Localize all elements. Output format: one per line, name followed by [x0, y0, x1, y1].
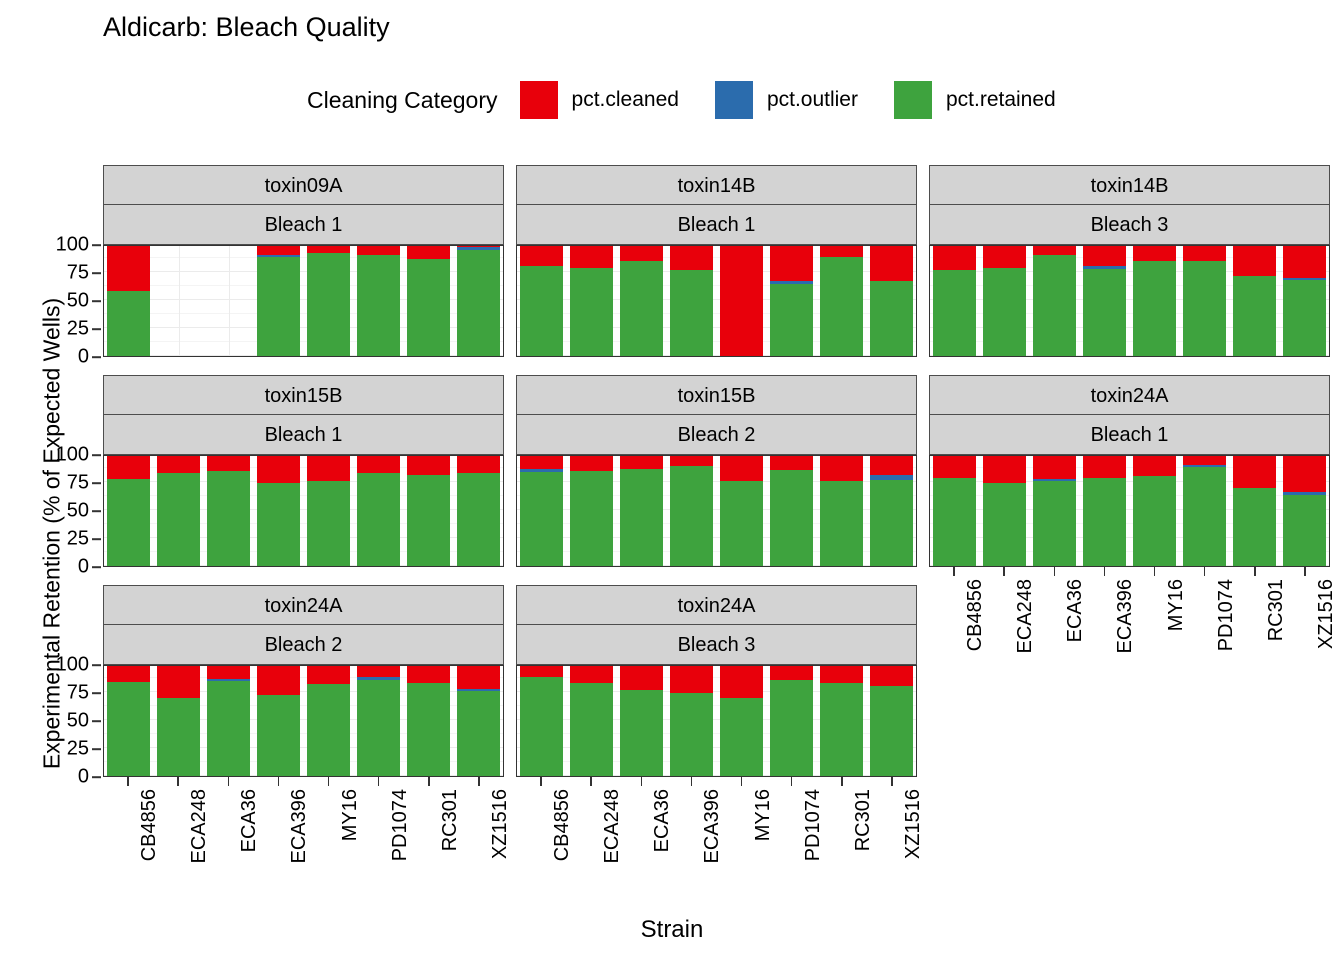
- bar-segment-pct-retained[interactable]: [457, 473, 500, 566]
- bar-segment-pct-retained[interactable]: [1083, 269, 1126, 356]
- x-tick-label-rc301: RC301: [1265, 579, 1288, 641]
- stacked-bar[interactable]: [983, 455, 1026, 566]
- y-tick-label-50: 50: [67, 500, 89, 523]
- stacked-bar[interactable]: [670, 245, 713, 356]
- bar-slot-cb4856: [930, 246, 980, 356]
- bar-segment-pct-retained[interactable]: [620, 690, 663, 776]
- y-axis: 1007550250: [41, 245, 101, 357]
- bar-segment-pct-cleaned[interactable]: [770, 245, 813, 281]
- plot-panel: [516, 455, 917, 567]
- bar-segment-pct-cleaned[interactable]: [520, 665, 563, 677]
- bar-segment-pct-retained[interactable]: [983, 483, 1026, 566]
- bar-slot-cb4856: [517, 456, 567, 566]
- y-tick-mark: [92, 482, 101, 484]
- bar-slot-pd1074: [766, 246, 816, 356]
- bar-segment-pct-retained[interactable]: [257, 695, 300, 776]
- x-tick-mark: [177, 777, 179, 786]
- bar-segment-pct-cleaned[interactable]: [570, 455, 613, 471]
- x-tick-label-eca36: ECA36: [238, 789, 261, 852]
- stacked-bar[interactable]: [307, 455, 350, 566]
- bar-segment-pct-cleaned[interactable]: [1283, 245, 1326, 278]
- bar-slot-my16: [304, 666, 354, 776]
- y-tick-label-0: 0: [78, 556, 89, 579]
- facet-panel: toxin15BBleach 2: [516, 375, 917, 567]
- stacked-bar[interactable]: [357, 455, 400, 566]
- x-tick-label-rc301: RC301: [852, 789, 875, 851]
- bar-segment-pct-cleaned[interactable]: [820, 455, 863, 481]
- stacked-bar[interactable]: [207, 665, 250, 776]
- bar-segment-pct-cleaned[interactable]: [520, 245, 563, 266]
- bar-slot-eca36: [204, 666, 254, 776]
- facet-strip-bleach: Bleach 1: [103, 205, 504, 245]
- bar-segment-pct-cleaned[interactable]: [1083, 245, 1126, 266]
- stacked-bar[interactable]: [357, 245, 400, 356]
- x-tick-label-my16: MY16: [1165, 579, 1188, 631]
- facet-strip-toxin: toxin09A: [103, 165, 504, 205]
- stacked-bar[interactable]: [820, 455, 863, 566]
- x-tick-label-xz1516: XZ1516: [902, 789, 925, 859]
- facet-panel: toxin24ABleach 3: [516, 585, 917, 777]
- stacked-bar[interactable]: [307, 665, 350, 776]
- facet-strip-toxin: toxin24A: [516, 585, 917, 625]
- bar-slot-rc301: [1229, 246, 1279, 356]
- stacked-bar[interactable]: [870, 245, 913, 356]
- legend-label-pct-outlier: pct.outlier: [767, 88, 858, 112]
- bar-slot-my16: [304, 246, 354, 356]
- stacked-bar[interactable]: [570, 665, 613, 776]
- stacked-bar[interactable]: [1033, 455, 1076, 566]
- bar-segment-pct-retained[interactable]: [770, 680, 813, 776]
- bar-segment-pct-cleaned[interactable]: [1233, 245, 1276, 276]
- stacked-bar[interactable]: [1183, 245, 1226, 356]
- bar-segment-pct-cleaned[interactable]: [770, 665, 813, 680]
- stacked-bar[interactable]: [933, 245, 976, 356]
- bar-slot-pd1074: [766, 666, 816, 776]
- stacked-bar[interactable]: [720, 665, 763, 776]
- stacked-bar[interactable]: [1233, 245, 1276, 356]
- bar-segment-pct-cleaned[interactable]: [1183, 455, 1226, 465]
- bar-segment-pct-cleaned[interactable]: [720, 455, 763, 481]
- bar-segment-pct-cleaned[interactable]: [520, 455, 563, 469]
- bar-segment-pct-retained[interactable]: [670, 270, 713, 356]
- x-tick-label-my16: MY16: [339, 789, 362, 841]
- bar-segment-pct-cleaned[interactable]: [207, 665, 250, 679]
- stacked-bar[interactable]: [620, 245, 663, 356]
- x-tick-label-eca36: ECA36: [1064, 579, 1087, 642]
- stacked-bar[interactable]: [107, 245, 150, 356]
- facet-strip-toxin: toxin24A: [929, 375, 1330, 415]
- bar-group: [104, 666, 503, 776]
- bar-segment-pct-retained[interactable]: [307, 481, 350, 566]
- bar-group: [517, 666, 916, 776]
- bar-segment-pct-retained[interactable]: [1233, 488, 1276, 566]
- facet-strip-toxin: toxin24A: [103, 585, 504, 625]
- bar-segment-pct-cleaned[interactable]: [257, 245, 300, 255]
- bar-segment-pct-cleaned[interactable]: [107, 665, 150, 682]
- bar-segment-pct-cleaned[interactable]: [457, 665, 500, 689]
- stacked-bar[interactable]: [407, 455, 450, 566]
- y-tick-mark: [92, 454, 101, 456]
- bar-segment-pct-retained[interactable]: [407, 259, 450, 356]
- bar-segment-pct-retained[interactable]: [107, 682, 150, 776]
- bar-segment-pct-retained[interactable]: [520, 472, 563, 566]
- bar-segment-pct-retained[interactable]: [207, 681, 250, 776]
- stacked-bar[interactable]: [307, 245, 350, 356]
- stacked-bar[interactable]: [570, 455, 613, 566]
- bar-segment-pct-retained[interactable]: [457, 250, 500, 356]
- stacked-bar[interactable]: [1183, 455, 1226, 566]
- bar-segment-pct-retained[interactable]: [1133, 261, 1176, 356]
- bar-segment-pct-retained[interactable]: [570, 268, 613, 356]
- y-tick-label-75: 75: [67, 682, 89, 705]
- bar-slot-eca36: [617, 246, 667, 356]
- bar-segment-pct-cleaned[interactable]: [1083, 455, 1126, 478]
- facet-panel: toxin24ABleach 1: [929, 375, 1330, 567]
- bar-segment-pct-cleaned[interactable]: [770, 455, 813, 470]
- bar-segment-pct-retained[interactable]: [870, 480, 913, 566]
- bar-slot-eca248: [567, 246, 617, 356]
- facet-panel: toxin09ABleach 1: [103, 165, 504, 357]
- bar-segment-pct-cleaned[interactable]: [107, 455, 150, 479]
- bar-slot-eca396: [667, 246, 717, 356]
- bar-segment-pct-cleaned[interactable]: [407, 245, 450, 259]
- bar-segment-pct-retained[interactable]: [770, 284, 813, 356]
- x-tick-mark: [590, 777, 592, 786]
- y-tick-mark: [92, 692, 101, 694]
- y-tick-label-0: 0: [78, 346, 89, 369]
- stacked-bar[interactable]: [820, 245, 863, 356]
- stacked-bar[interactable]: [670, 665, 713, 776]
- stacked-bar[interactable]: [457, 455, 500, 566]
- bar-segment-pct-cleaned[interactable]: [207, 455, 250, 471]
- stacked-bar[interactable]: [983, 245, 1026, 356]
- bar-segment-pct-cleaned[interactable]: [107, 245, 150, 291]
- stacked-bar[interactable]: [820, 665, 863, 776]
- bar-segment-pct-cleaned[interactable]: [820, 665, 863, 683]
- legend-label-pct-retained: pct.retained: [946, 88, 1056, 112]
- bar-segment-pct-cleaned[interactable]: [307, 665, 350, 684]
- bar-segment-pct-retained[interactable]: [157, 473, 200, 566]
- bar-segment-pct-retained[interactable]: [1183, 261, 1226, 356]
- bar-slot-cb4856: [517, 666, 567, 776]
- bar-slot-cb4856: [104, 456, 154, 566]
- x-tick-mark: [328, 777, 330, 786]
- bar-slot-rc301: [816, 666, 866, 776]
- y-tick-mark: [92, 272, 101, 274]
- stacked-bar[interactable]: [107, 455, 150, 566]
- bar-segment-pct-retained[interactable]: [870, 686, 913, 776]
- bar-slot-eca248: [154, 246, 204, 356]
- bar-slot-pd1074: [353, 666, 403, 776]
- stacked-bar[interactable]: [157, 455, 200, 566]
- bar-group: [517, 246, 916, 356]
- bar-slot-eca396: [254, 246, 304, 356]
- legend-item-pct-outlier[interactable]: pct.outlier: [715, 81, 880, 119]
- plot-panel: [103, 245, 504, 357]
- stacked-bar[interactable]: [257, 665, 300, 776]
- bar-slot-xz1516: [866, 246, 916, 356]
- bar-segment-pct-cleaned[interactable]: [157, 455, 200, 473]
- x-axis-col2: CB4856ECA248ECA36ECA396MY16PD1074RC301XZ…: [929, 567, 1330, 687]
- bar-segment-pct-retained[interactable]: [107, 479, 150, 566]
- bar-segment-pct-retained[interactable]: [983, 268, 1026, 356]
- bar-segment-pct-retained[interactable]: [1283, 280, 1326, 356]
- stacked-bar[interactable]: [1283, 245, 1326, 356]
- stacked-bar[interactable]: [520, 455, 563, 566]
- stacked-bar[interactable]: [407, 245, 450, 356]
- bar-group: [104, 456, 503, 566]
- x-tick-mark: [1154, 567, 1156, 576]
- bar-segment-pct-cleaned[interactable]: [670, 455, 713, 466]
- bar-slot-cb4856: [517, 246, 567, 356]
- stacked-bar[interactable]: [1133, 455, 1176, 566]
- bar-segment-pct-retained[interactable]: [1283, 495, 1326, 566]
- stacked-bar[interactable]: [520, 245, 563, 356]
- bar-segment-pct-cleaned[interactable]: [1133, 245, 1176, 261]
- bar-segment-pct-cleaned[interactable]: [983, 245, 1026, 268]
- bar-segment-pct-retained[interactable]: [157, 698, 200, 776]
- y-tick-mark: [92, 720, 101, 722]
- legend-swatch-pct-outlier: [715, 81, 753, 119]
- bar-segment-pct-cleaned[interactable]: [407, 455, 450, 475]
- facet-strip-bleach: Bleach 2: [103, 625, 504, 665]
- stacked-bar[interactable]: [457, 665, 500, 776]
- bar-slot-my16: [717, 456, 767, 566]
- bar-segment-pct-retained[interactable]: [870, 281, 913, 356]
- bar-segment-pct-cleaned[interactable]: [1033, 455, 1076, 479]
- bar-segment-pct-retained[interactable]: [1033, 481, 1076, 566]
- stacked-bar[interactable]: [720, 245, 763, 356]
- bar-segment-pct-retained[interactable]: [820, 257, 863, 356]
- stacked-bar[interactable]: [1283, 455, 1326, 566]
- bar-segment-pct-retained[interactable]: [1233, 276, 1276, 356]
- bar-segment-pct-retained[interactable]: [520, 677, 563, 776]
- bar-segment-pct-cleaned[interactable]: [357, 455, 400, 473]
- bar-segment-pct-retained[interactable]: [720, 481, 763, 566]
- bar-segment-pct-retained[interactable]: [357, 473, 400, 566]
- bar-segment-pct-cleaned[interactable]: [1233, 455, 1276, 488]
- plot-panel: [929, 455, 1330, 567]
- x-tick-mark: [691, 777, 693, 786]
- y-axis: 1007550250: [41, 665, 101, 777]
- bar-segment-pct-retained[interactable]: [307, 684, 350, 776]
- bar-segment-pct-retained[interactable]: [257, 483, 300, 566]
- bar-segment-pct-cleaned[interactable]: [620, 245, 663, 261]
- bar-segment-pct-retained[interactable]: [207, 471, 250, 566]
- stacked-bar[interactable]: [407, 665, 450, 776]
- bar-segment-pct-cleaned[interactable]: [720, 665, 763, 698]
- legend-label-pct-cleaned: pct.cleaned: [572, 88, 679, 112]
- bar-segment-pct-retained[interactable]: [407, 683, 450, 776]
- bar-slot-eca248: [154, 456, 204, 566]
- stacked-bar[interactable]: [257, 245, 300, 356]
- bar-segment-pct-cleaned[interactable]: [407, 665, 450, 683]
- facet-panel: toxin15BBleach 1: [103, 375, 504, 567]
- bar-segment-pct-cleaned[interactable]: [620, 455, 663, 469]
- bar-segment-pct-cleaned[interactable]: [983, 455, 1026, 483]
- x-tick-mark: [278, 777, 280, 786]
- bar-segment-pct-retained[interactable]: [107, 291, 150, 356]
- bar-segment-pct-cleaned[interactable]: [1183, 245, 1226, 261]
- bar-slot-eca248: [154, 666, 204, 776]
- stacked-bar[interactable]: [620, 455, 663, 566]
- bar-segment-pct-cleaned[interactable]: [457, 455, 500, 473]
- plot-panel: [103, 455, 504, 567]
- bar-segment-pct-retained[interactable]: [1133, 476, 1176, 566]
- bar-segment-pct-retained[interactable]: [670, 466, 713, 566]
- stacked-bar[interactable]: [1033, 245, 1076, 356]
- bar-segment-pct-retained[interactable]: [570, 683, 613, 776]
- y-tick-label-50: 50: [67, 290, 89, 313]
- stacked-bar[interactable]: [1083, 455, 1126, 566]
- x-tick-mark: [428, 777, 430, 786]
- bar-segment-pct-cleaned[interactable]: [570, 245, 613, 268]
- stacked-bar[interactable]: [1083, 245, 1126, 356]
- stacked-bar[interactable]: [670, 455, 713, 566]
- x-tick-mark: [1204, 567, 1206, 576]
- x-tick-mark: [741, 777, 743, 786]
- facet-row: toxin15BBleach 1toxin15BBleach 2toxin24A…: [103, 375, 1330, 567]
- stacked-bar[interactable]: [1233, 455, 1276, 566]
- bar-segment-pct-retained[interactable]: [670, 693, 713, 776]
- bar-segment-pct-cleaned[interactable]: [1283, 455, 1326, 492]
- bar-segment-pct-retained[interactable]: [770, 470, 813, 566]
- bar-segment-pct-cleaned[interactable]: [357, 245, 400, 255]
- bar-segment-pct-cleaned[interactable]: [257, 455, 300, 483]
- bar-segment-pct-cleaned[interactable]: [670, 245, 713, 270]
- bar-segment-pct-retained[interactable]: [620, 469, 663, 566]
- bar-slot-eca396: [667, 666, 717, 776]
- x-tick-label-pd1074: PD1074: [802, 789, 825, 861]
- bar-segment-pct-retained[interactable]: [620, 261, 663, 356]
- stacked-bar[interactable]: [157, 665, 200, 776]
- bar-segment-pct-cleaned[interactable]: [257, 665, 300, 695]
- bar-segment-pct-cleaned[interactable]: [307, 245, 350, 253]
- bar-segment-pct-cleaned[interactable]: [870, 665, 913, 686]
- y-tick-mark: [92, 300, 101, 302]
- legend-item-pct-retained[interactable]: pct.retained: [894, 81, 1078, 119]
- stacked-bar[interactable]: [457, 245, 500, 356]
- bar-segment-pct-retained[interactable]: [357, 680, 400, 776]
- facet-row: toxin09ABleach 1toxin14BBleach 1toxin14B…: [103, 165, 1330, 357]
- stacked-bar[interactable]: [357, 665, 400, 776]
- stacked-bar[interactable]: [870, 455, 913, 566]
- bar-slot-eca36: [617, 666, 667, 776]
- y-tick-mark: [92, 328, 101, 330]
- bar-segment-pct-retained[interactable]: [933, 270, 976, 356]
- stacked-bar[interactable]: [770, 245, 813, 356]
- x-tick-mark: [478, 777, 480, 786]
- bar-group: [930, 246, 1329, 356]
- stacked-bar[interactable]: [620, 665, 663, 776]
- bar-segment-pct-cleaned[interactable]: [933, 455, 976, 478]
- bar-segment-pct-cleaned[interactable]: [1133, 455, 1176, 476]
- bar-segment-pct-cleaned[interactable]: [620, 665, 663, 690]
- x-tick-mark: [540, 777, 542, 786]
- y-tick-mark: [92, 748, 101, 750]
- bar-slot-eca36: [1030, 246, 1080, 356]
- stacked-bar[interactable]: [933, 455, 976, 566]
- x-tick-label-xz1516: XZ1516: [489, 789, 512, 859]
- stacked-bar[interactable]: [770, 455, 813, 566]
- facet-strip-bleach: Bleach 1: [103, 415, 504, 455]
- bar-segment-pct-retained[interactable]: [457, 691, 500, 776]
- bar-segment-pct-retained[interactable]: [933, 478, 976, 566]
- stacked-bar[interactable]: [107, 665, 150, 776]
- bar-segment-pct-cleaned[interactable]: [720, 245, 763, 356]
- y-tick-mark: [92, 566, 101, 568]
- facet-strip-bleach: Bleach 1: [929, 415, 1330, 455]
- bar-slot-pd1074: [1179, 246, 1229, 356]
- x-tick-label-my16: MY16: [752, 789, 775, 841]
- bar-segment-pct-retained[interactable]: [1183, 467, 1226, 566]
- bar-segment-pct-cleaned[interactable]: [1033, 245, 1076, 255]
- bar-segment-pct-cleaned[interactable]: [870, 455, 913, 475]
- stacked-bar[interactable]: [1133, 245, 1176, 356]
- bar-segment-pct-retained[interactable]: [357, 255, 400, 356]
- stacked-bar[interactable]: [520, 665, 563, 776]
- stacked-bar[interactable]: [207, 455, 250, 566]
- bar-segment-pct-cleaned[interactable]: [570, 665, 613, 683]
- x-tick-mark: [378, 777, 380, 786]
- bar-segment-pct-retained[interactable]: [820, 683, 863, 776]
- bar-segment-pct-cleaned[interactable]: [157, 665, 200, 698]
- bar-slot-my16: [717, 666, 767, 776]
- bar-segment-pct-cleaned[interactable]: [820, 245, 863, 257]
- bar-segment-pct-retained[interactable]: [570, 471, 613, 566]
- bar-slot-cb4856: [104, 246, 154, 356]
- bar-segment-pct-cleaned[interactable]: [933, 245, 976, 270]
- bar-segment-pct-retained[interactable]: [407, 475, 450, 566]
- bar-segment-pct-cleaned[interactable]: [307, 455, 350, 481]
- bar-slot-xz1516: [453, 666, 503, 776]
- plot-panel: [103, 665, 504, 777]
- bar-group: [104, 246, 503, 356]
- bar-slot-pd1074: [1179, 456, 1229, 566]
- bar-segment-pct-retained[interactable]: [307, 253, 350, 356]
- y-tick-mark: [92, 244, 101, 246]
- x-tick-mark: [1304, 567, 1306, 576]
- x-tick-label-eca248: ECA248: [188, 789, 211, 864]
- bar-segment-pct-retained[interactable]: [820, 481, 863, 566]
- x-tick-label-eca396: ECA396: [288, 789, 311, 864]
- bar-segment-pct-retained[interactable]: [1033, 255, 1076, 356]
- bar-segment-pct-cleaned[interactable]: [870, 245, 913, 281]
- bar-segment-pct-retained[interactable]: [720, 698, 763, 776]
- bar-segment-pct-cleaned[interactable]: [357, 665, 400, 677]
- bar-segment-pct-cleaned[interactable]: [670, 665, 713, 693]
- y-tick-mark: [92, 664, 101, 666]
- stacked-bar[interactable]: [870, 665, 913, 776]
- bar-segment-pct-retained[interactable]: [520, 266, 563, 356]
- stacked-bar[interactable]: [257, 455, 300, 566]
- bar-segment-pct-retained[interactable]: [1083, 478, 1126, 566]
- facet-strip-toxin: toxin14B: [929, 165, 1330, 205]
- stacked-bar[interactable]: [570, 245, 613, 356]
- bar-slot-eca248: [980, 246, 1030, 356]
- x-tick-mark: [228, 777, 230, 786]
- stacked-bar[interactable]: [770, 665, 813, 776]
- bar-slot-eca36: [204, 246, 254, 356]
- bar-slot-eca36: [1030, 456, 1080, 566]
- bar-slot-rc301: [403, 246, 453, 356]
- stacked-bar[interactable]: [720, 455, 763, 566]
- bar-segment-pct-retained[interactable]: [257, 257, 300, 356]
- x-tick-label-cb4856: CB4856: [551, 789, 574, 861]
- legend-item-pct-cleaned[interactable]: pct.cleaned: [520, 81, 701, 119]
- facet-strip-bleach: Bleach 3: [929, 205, 1330, 245]
- legend-swatch-pct-cleaned: [520, 81, 558, 119]
